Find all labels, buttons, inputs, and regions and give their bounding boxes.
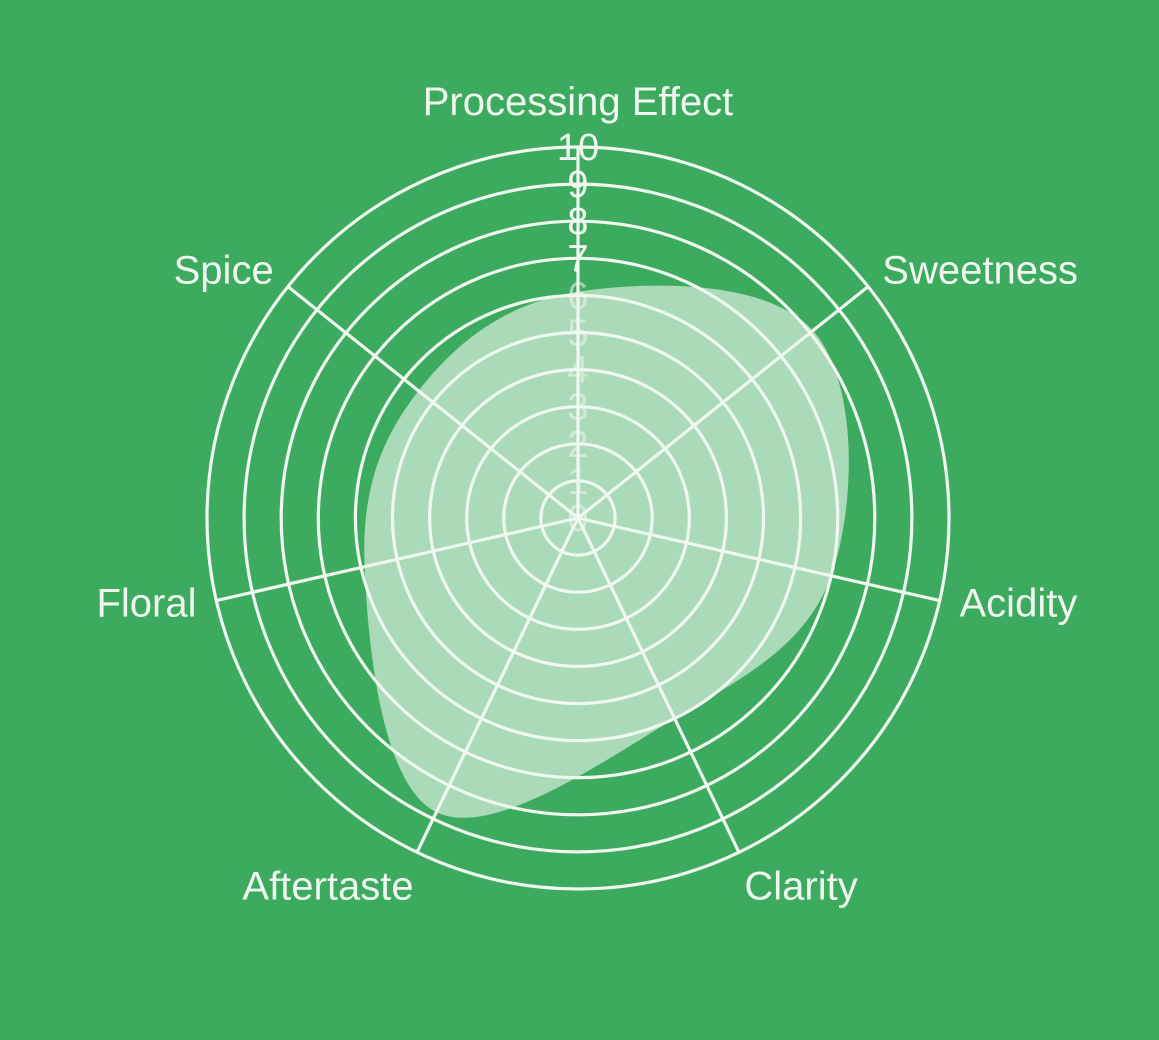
radial-tick-label-3: 3 [567,387,588,429]
radial-tick-label-10: 10 [557,127,599,169]
axis-label-clarity: Clarity [744,865,857,909]
radial-tick-label-5: 5 [567,313,588,355]
radial-tick-label-4: 4 [567,350,588,392]
radial-tick-label-8: 8 [567,201,588,243]
axis-label-sweetness: Sweetness [882,249,1078,293]
radial-tick-label-1: 1 [567,461,588,503]
axis-label-spice: Spice [174,249,274,293]
axis-label-acidity: Acidity [960,581,1078,625]
axis-label-processing-effect: Processing Effect [423,80,734,124]
radial-tick-label-2: 2 [567,424,588,466]
radar-chart-svg: 012345678910 Processing EffectSweetnessA… [0,0,1159,1040]
axis-label-aftertaste: Aftertaste [242,865,413,909]
radar-chart-figure: 012345678910 Processing EffectSweetnessA… [0,0,1159,1040]
radial-tick-label-0: 0 [567,498,588,540]
radial-tick-label-7: 7 [567,238,588,280]
radial-tick-label-6: 6 [567,275,588,317]
radial-tick-label-9: 9 [567,164,588,206]
axis-label-floral: Floral [96,581,196,625]
